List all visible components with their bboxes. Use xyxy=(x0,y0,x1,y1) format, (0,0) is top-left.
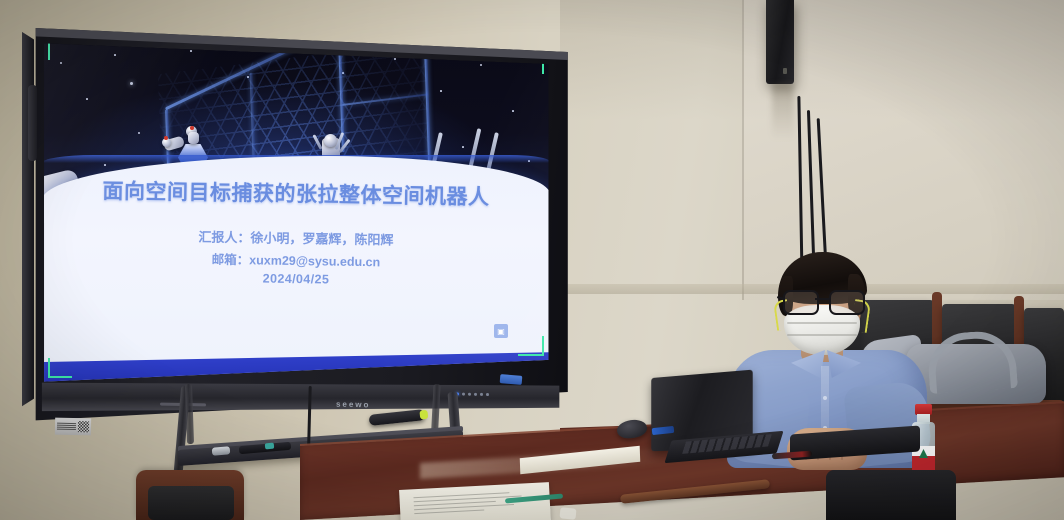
label-text-lines xyxy=(57,423,76,430)
display-corner-accent xyxy=(500,374,523,385)
conference-room-photo: 面向空间目标捕获的张拉整体空间机器人 汇报人：徐小明，罗嘉辉，陈阳辉 邮箱：xu… xyxy=(0,0,1064,520)
display-screen[interactable]: 面向空间目标捕获的张拉整体空间机器人 汇报人：徐小明，罗嘉辉，陈阳辉 邮箱：xu… xyxy=(42,36,550,388)
eraser xyxy=(559,507,576,520)
handwriting-lines xyxy=(413,491,524,517)
presenter-clicker[interactable] xyxy=(212,446,231,456)
small-accessory xyxy=(265,443,274,450)
wall-speaker xyxy=(766,0,794,84)
qr-code-icon xyxy=(78,421,89,432)
presentation-slide: 面向空间目标捕获的张拉整体空间机器人 汇报人：徐小明，罗嘉辉，陈阳辉 邮箱：xu… xyxy=(42,36,550,388)
display-bottom-bezel xyxy=(34,382,562,412)
asset-qr-label xyxy=(55,418,91,436)
glasses-lens-left xyxy=(783,290,819,315)
mask-fold xyxy=(787,334,857,336)
capture-bracket-bottom-right-icon xyxy=(518,336,544,356)
screen-badge-icon[interactable]: ▣ xyxy=(494,324,508,338)
speaker-shadow xyxy=(772,84,794,140)
foreground-chair-seat xyxy=(148,486,234,520)
shirt-button xyxy=(823,396,827,400)
glasses-lens-right xyxy=(829,290,865,315)
speaker-led-icon xyxy=(783,68,787,74)
mask-fold xyxy=(787,322,857,324)
glasses-bridge xyxy=(815,298,831,300)
display-brand-label: seewo xyxy=(336,400,371,410)
foreground-chair-right xyxy=(826,470,956,520)
eyeglasses xyxy=(781,290,865,312)
microphone-indicator-icon xyxy=(419,410,428,420)
interactive-display[interactable]: 面向空间目标捕获的张拉整体空间机器人 汇报人：徐小明，罗嘉辉，陈阳辉 邮箱：xu… xyxy=(10,22,580,432)
wall-shadow xyxy=(560,0,1064,120)
capture-bracket-bottom-left-icon xyxy=(48,358,72,378)
display-side-handle[interactable] xyxy=(28,85,37,161)
